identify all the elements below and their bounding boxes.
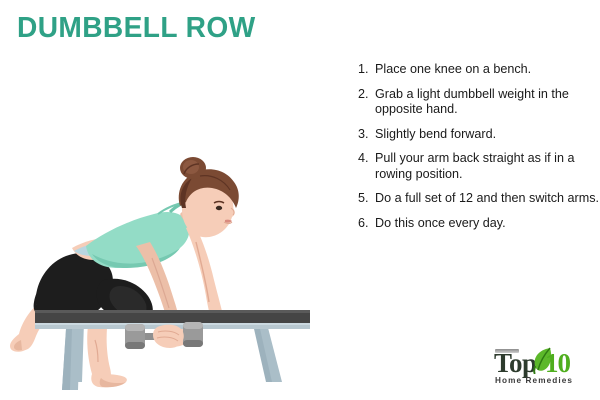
list-item: Slightly bend forward. bbox=[372, 127, 600, 143]
figure-graphic bbox=[10, 157, 260, 387]
brand-logo[interactable]: Top 10 Home Remedies bbox=[494, 348, 594, 394]
list-item: Do this once every day. bbox=[372, 216, 600, 232]
exercise-illustration bbox=[0, 150, 340, 390]
gripping-hand bbox=[153, 325, 184, 348]
list-item: Place one knee on a bench. bbox=[372, 62, 600, 78]
logo-word-top: Top bbox=[494, 348, 537, 378]
logo-word-ten: 10 bbox=[545, 348, 570, 378]
bench-near-leg bbox=[62, 329, 80, 390]
logo-tagline: Home Remedies bbox=[495, 376, 573, 385]
page-title: DUMBBELL ROW bbox=[17, 12, 256, 45]
list-item: Do a full set of 12 and then switch arms… bbox=[372, 191, 600, 207]
logo-wordmark: Top 10 bbox=[494, 348, 594, 378]
list-item: Pull your arm back straight as if in a r… bbox=[372, 151, 600, 182]
exercise-infographic: DUMBBELL ROW Place one knee on a bench. … bbox=[0, 0, 600, 400]
list-item: Grab a light dumbbell weight in the oppo… bbox=[372, 87, 600, 118]
instruction-steps-list: Place one knee on a bench. Grab a light … bbox=[352, 62, 600, 240]
